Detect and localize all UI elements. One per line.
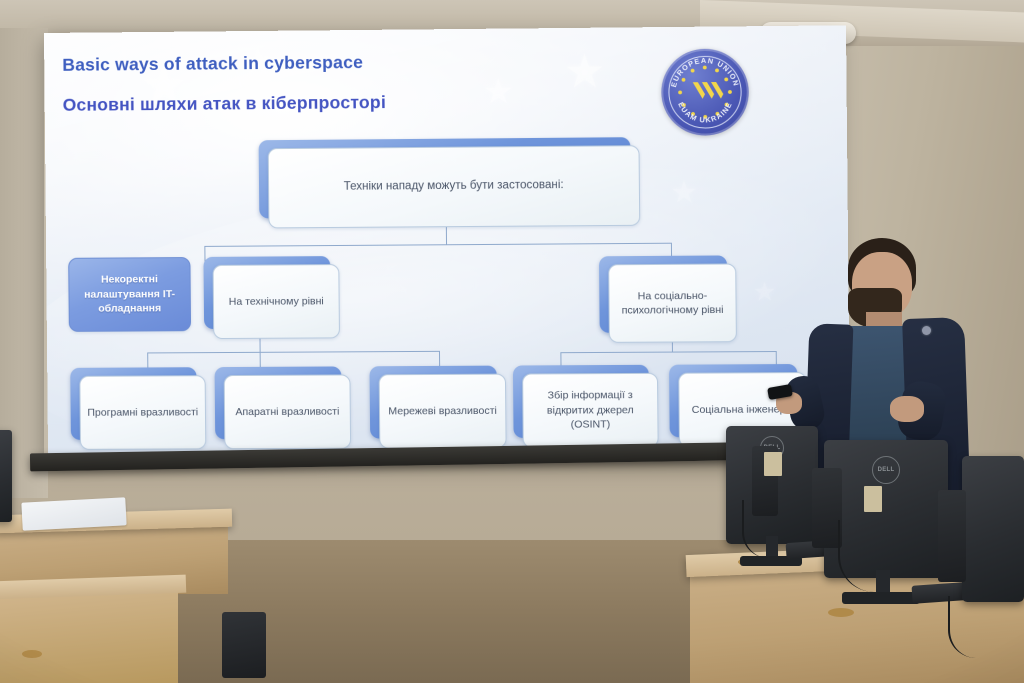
node-label: На технічному рівні <box>223 294 330 309</box>
node-body: Апаратні вразливості <box>224 374 351 449</box>
projection-screen: ★ ★ ★ ★ ★ ★ ★ Basic ways of attack in cy… <box>44 33 838 461</box>
node-label: Збір інформації з відкритих джерел (OSIN… <box>523 388 657 432</box>
chart-node-social-psych-level[interactable]: На соціально-психологічному рівні <box>608 264 737 341</box>
left-wall-strip <box>0 28 48 498</box>
chart-node-software-vulnerabilities[interactable]: Програмні вразливості <box>79 376 206 449</box>
chart-node-hardware-vulnerabilities[interactable]: Апаратні вразливості <box>224 375 351 448</box>
chart-node-network-vulnerabilities[interactable]: Мережеві вразливості <box>379 375 507 448</box>
monitor-dell <box>962 456 1024 602</box>
asset-tag <box>764 452 782 476</box>
presenter-right-hand <box>890 396 924 422</box>
node-label: На соціально-психологічному рівні <box>609 288 735 318</box>
slide-title-ukrainian: Основні шляхи атак в кіберпросторі <box>63 92 387 116</box>
desk-grommet <box>828 608 854 617</box>
node-body: Техніки нападу можуть бути застосовані: <box>268 145 641 228</box>
papers-on-desk <box>21 497 126 530</box>
slide-title-english: Basic ways of attack in cyberspace <box>62 52 363 76</box>
connector-root-down <box>446 226 447 244</box>
star-watermark: ★ <box>483 75 514 109</box>
euam-ukraine-emblem: EUROPEAN UNION EUAM UKRAINE <box>661 48 749 135</box>
connector-level2-bus <box>204 243 671 247</box>
node-label: Техніки нападу можуть бути застосовані: <box>338 178 570 196</box>
star-watermark: ★ <box>753 278 777 304</box>
dell-logo: DELL <box>872 456 900 484</box>
monitor-left-edge <box>0 430 12 522</box>
presentation-slide: ★ ★ ★ ★ ★ ★ ★ Basic ways of attack in cy… <box>44 25 850 461</box>
node-label: Некоректні налаштування IT-обладнання <box>69 272 190 316</box>
connector-level3-bus-left <box>147 351 439 354</box>
connector-level3-bus-right <box>560 351 775 353</box>
emblem-graphics: EUROPEAN UNION EUAM UKRAINE <box>661 48 749 135</box>
svg-text:EUAM UKRAINE: EUAM UKRAINE <box>676 100 734 125</box>
node-body: Некоректні налаштування IT-обладнання <box>68 257 191 332</box>
node-body: На технічному рівні <box>213 264 340 339</box>
floor-pc-tower <box>222 612 266 678</box>
classroom-scene: ★ ★ ★ ★ ★ ★ ★ Basic ways of attack in cy… <box>0 0 1024 683</box>
node-body: На соціально-психологічному рівні <box>608 263 737 342</box>
chart-node-technical-level[interactable]: На технічному рівні <box>213 265 340 338</box>
node-body: Програмні вразливості <box>79 375 206 450</box>
star-watermark: ★ <box>670 178 698 208</box>
desktop-pc <box>938 490 966 582</box>
star-watermark: ★ <box>564 48 606 95</box>
monitor-base <box>842 592 920 604</box>
desk-left-front <box>0 586 178 683</box>
node-body: Мережеві вразливості <box>379 374 507 449</box>
presenter-lapel-pin <box>922 326 931 335</box>
desk-grommet <box>22 650 42 658</box>
node-label: Програмні вразливості <box>81 405 204 420</box>
chart-node-it-misconfiguration[interactable]: Некоректні налаштування IT-обладнання <box>68 258 191 331</box>
node-label: Апаратні вразливості <box>229 404 345 419</box>
asset-tag <box>864 486 882 512</box>
node-body: Збір інформації з відкритих джерел (OSIN… <box>522 373 659 448</box>
node-label: Мережеві вразливості <box>382 404 503 419</box>
chart-node-root[interactable]: Техніки нападу можуть бути застосовані: <box>268 146 641 227</box>
chart-node-osint[interactable]: Збір інформації з відкритих джерел (OSIN… <box>522 374 659 447</box>
